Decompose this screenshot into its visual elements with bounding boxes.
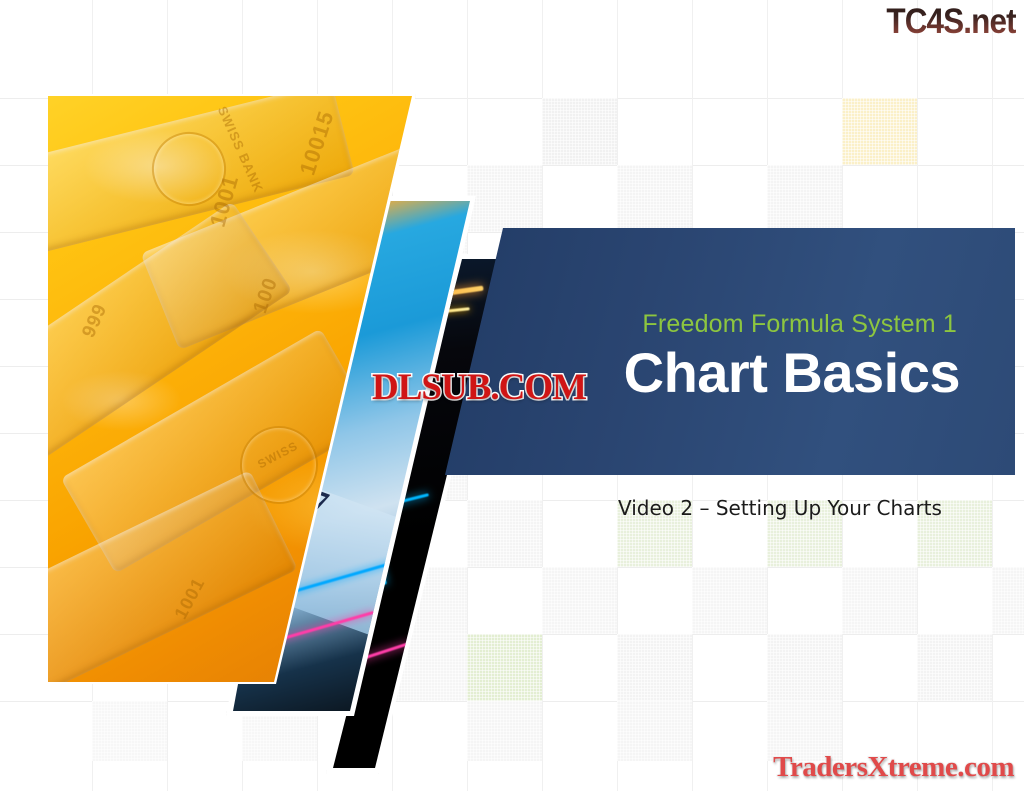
bg-tile (992, 567, 1024, 634)
bg-tile (917, 634, 992, 701)
bg-tile (617, 634, 692, 701)
tradersxtreme-logo[interactable]: TradersXtreme.com (773, 751, 1014, 784)
bg-tile (842, 567, 917, 634)
slide-canvas: +12.7 2 SWISS BANK 1001 10015 100 999 (0, 0, 1024, 791)
subtitle-text: Video 2 – Setting Up Your Charts (618, 496, 978, 520)
bg-tile (842, 98, 917, 165)
bg-tile (467, 165, 542, 232)
bg-tile (767, 634, 842, 701)
tc4s-logo[interactable]: TC4S.net (887, 2, 1016, 42)
page-title: Chart Basics (624, 340, 960, 405)
bg-tile (542, 98, 617, 165)
bg-tile (617, 165, 692, 232)
bg-tile (617, 701, 692, 761)
bg-tile (467, 500, 542, 567)
bg-tile (692, 567, 767, 634)
banner-eyebrow: Freedom Formula System 1 (642, 310, 957, 339)
bg-tile (542, 567, 617, 634)
bg-tile (467, 634, 542, 701)
dlsub-watermark: DLSUB.COM (372, 366, 586, 409)
bg-tile (767, 165, 842, 232)
title-banner-text: Freedom Formula System 1 Chart Basics (445, 228, 1015, 475)
bg-tile (467, 701, 542, 761)
